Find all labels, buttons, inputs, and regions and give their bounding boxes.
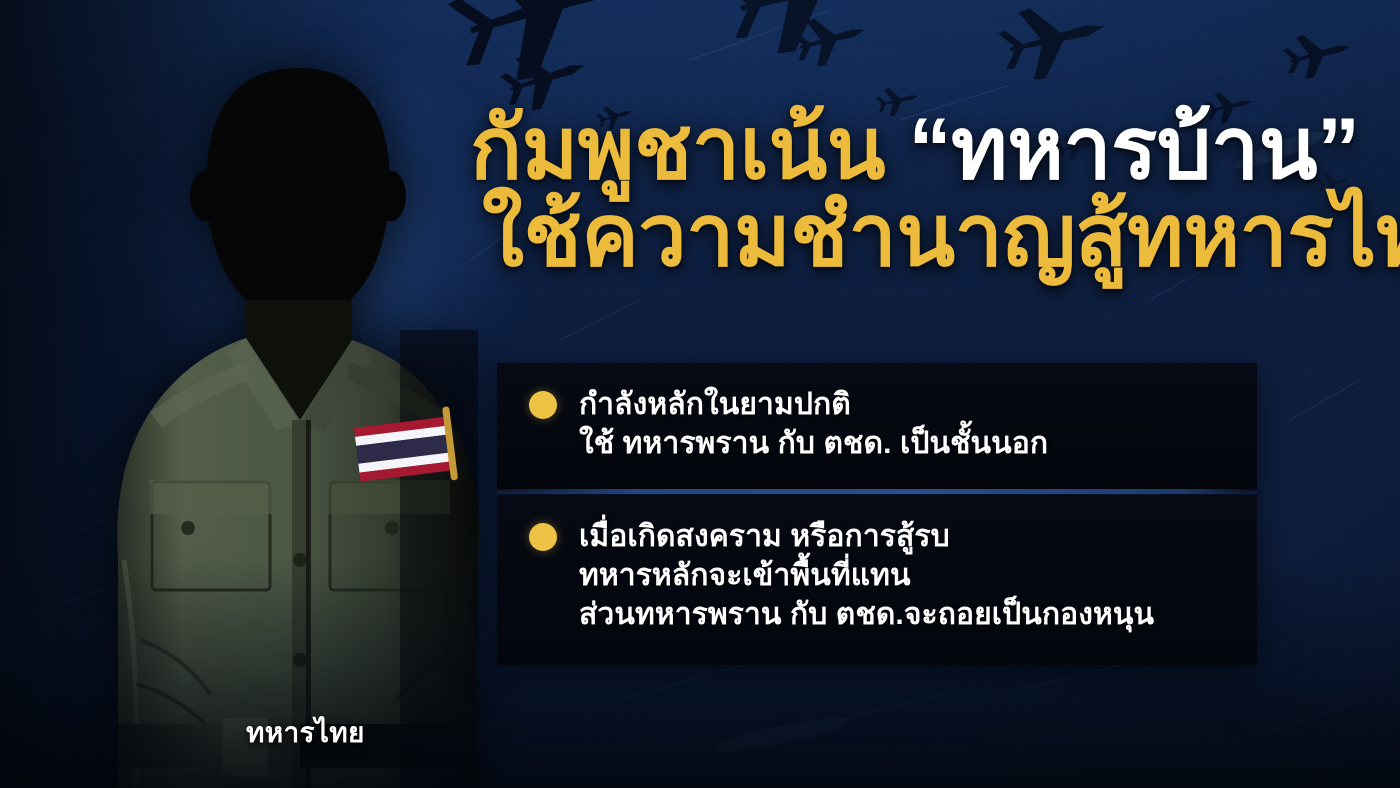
panel-divider [497, 489, 1257, 494]
info-panel-1-line-2: ใช้ ทหารพราน กับ ตชด. เป็นชั้นนอก [579, 424, 1048, 463]
info-panel-2-text: เมื่อเกิดสงคราม หรือการสู้รบ ทหารหลักจะเ… [579, 517, 1154, 634]
info-panel-1-text: กำลังหลักในยามปกติ ใช้ ทหารพราน กับ ตชด.… [579, 385, 1048, 463]
headline-block: กัมพูชาเน้น “ทหารบ้าน” ใช้ความชำนาญสู้ทห… [470, 108, 1270, 277]
headline-line-2: ใช้ความชำนาญสู้ทหารไทย [470, 195, 1270, 278]
infographic-canvas: ทหารไทย กัมพูชาเน้น “ทหารบ้าน” ใช้ความชำ… [0, 0, 1400, 788]
soldier-caption: ทหารไทย [246, 711, 365, 755]
info-panel-2-line-2: ทหารหลักจะเข้าพื้นที่แทน [579, 556, 1154, 595]
info-panel-1: กำลังหลักในยามปกติ ใช้ ทหารพราน กับ ตชด.… [497, 363, 1257, 491]
bullet-dot-icon [529, 391, 557, 419]
headline-line-1: กัมพูชาเน้น “ทหารบ้าน” [470, 108, 1270, 191]
bullet-dot-icon [529, 523, 557, 551]
info-panel-1-line-1: กำลังหลักในยามปกติ [579, 385, 1048, 424]
info-panel-2: เมื่อเกิดสงคราม หรือการสู้รบ ทหารหลักจะเ… [497, 495, 1257, 665]
info-panel-2-line-1: เมื่อเกิดสงคราม หรือการสู้รบ [579, 517, 1154, 556]
headline-line-1-quoted: “ทหารบ้าน” [909, 101, 1360, 197]
headline-line-1-yellow: กัมพูชาเน้น [470, 101, 885, 197]
info-panel-2-line-3: ส่วนทหารพราน กับ ตชด.จะถอยเป็นกองหนุน [579, 595, 1154, 634]
